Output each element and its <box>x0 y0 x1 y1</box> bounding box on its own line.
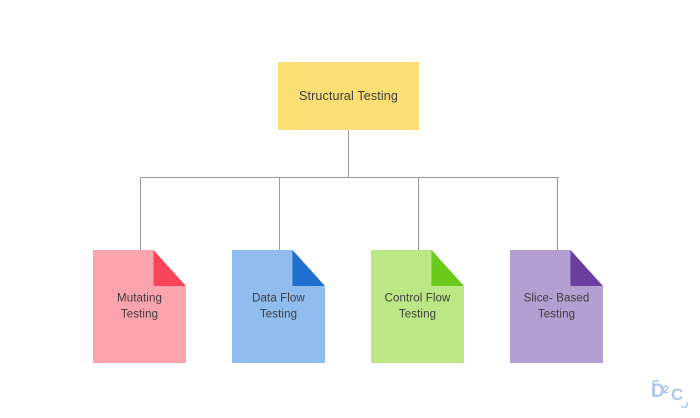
connector-drop-1 <box>140 177 141 251</box>
page-fold-icon <box>292 250 325 286</box>
node-label-line2: Testing <box>260 309 297 321</box>
d2c-watermark-logo: D 2 C <box>651 378 689 410</box>
page-fold-icon <box>431 250 464 286</box>
node-label-line2: Testing <box>399 309 436 321</box>
connector-root-trunk <box>348 130 349 178</box>
node-label-line2: Testing <box>538 309 575 321</box>
page-fold-icon <box>570 250 603 286</box>
node-structural-testing-label: Structural Testing <box>299 88 398 105</box>
node-label-line1: Data Flow <box>252 292 305 304</box>
svg-text:2: 2 <box>663 384 669 396</box>
node-data-flow-testing[interactable]: Data Flow Testing <box>232 250 325 363</box>
node-structural-testing[interactable]: Structural Testing <box>278 62 419 130</box>
node-label-line2: Testing <box>121 309 158 321</box>
node-slice-based-testing[interactable]: Slice- Based Testing <box>510 250 603 363</box>
node-slice-based-testing-label: Slice- Based Testing <box>510 290 603 323</box>
svg-text:C: C <box>671 385 683 404</box>
node-mutating-testing[interactable]: Mutating Testing <box>93 250 186 363</box>
node-control-flow-testing-label: Control Flow Testing <box>371 290 464 323</box>
connector-drop-3 <box>418 177 419 251</box>
connector-drop-4 <box>557 177 558 251</box>
node-label-line1: Control Flow <box>385 292 451 304</box>
node-control-flow-testing[interactable]: Control Flow Testing <box>371 250 464 363</box>
node-label-line1: Slice- Based <box>524 292 590 304</box>
connector-drop-2 <box>279 177 280 251</box>
node-data-flow-testing-label: Data Flow Testing <box>232 290 325 323</box>
connector-horizontal-bus <box>140 177 559 178</box>
page-fold-icon <box>153 250 186 286</box>
node-mutating-testing-label: Mutating Testing <box>93 290 186 323</box>
diagram-canvas: Structural Testing Mutating Testing Data… <box>0 0 700 418</box>
node-label-line1: Mutating <box>117 292 162 304</box>
